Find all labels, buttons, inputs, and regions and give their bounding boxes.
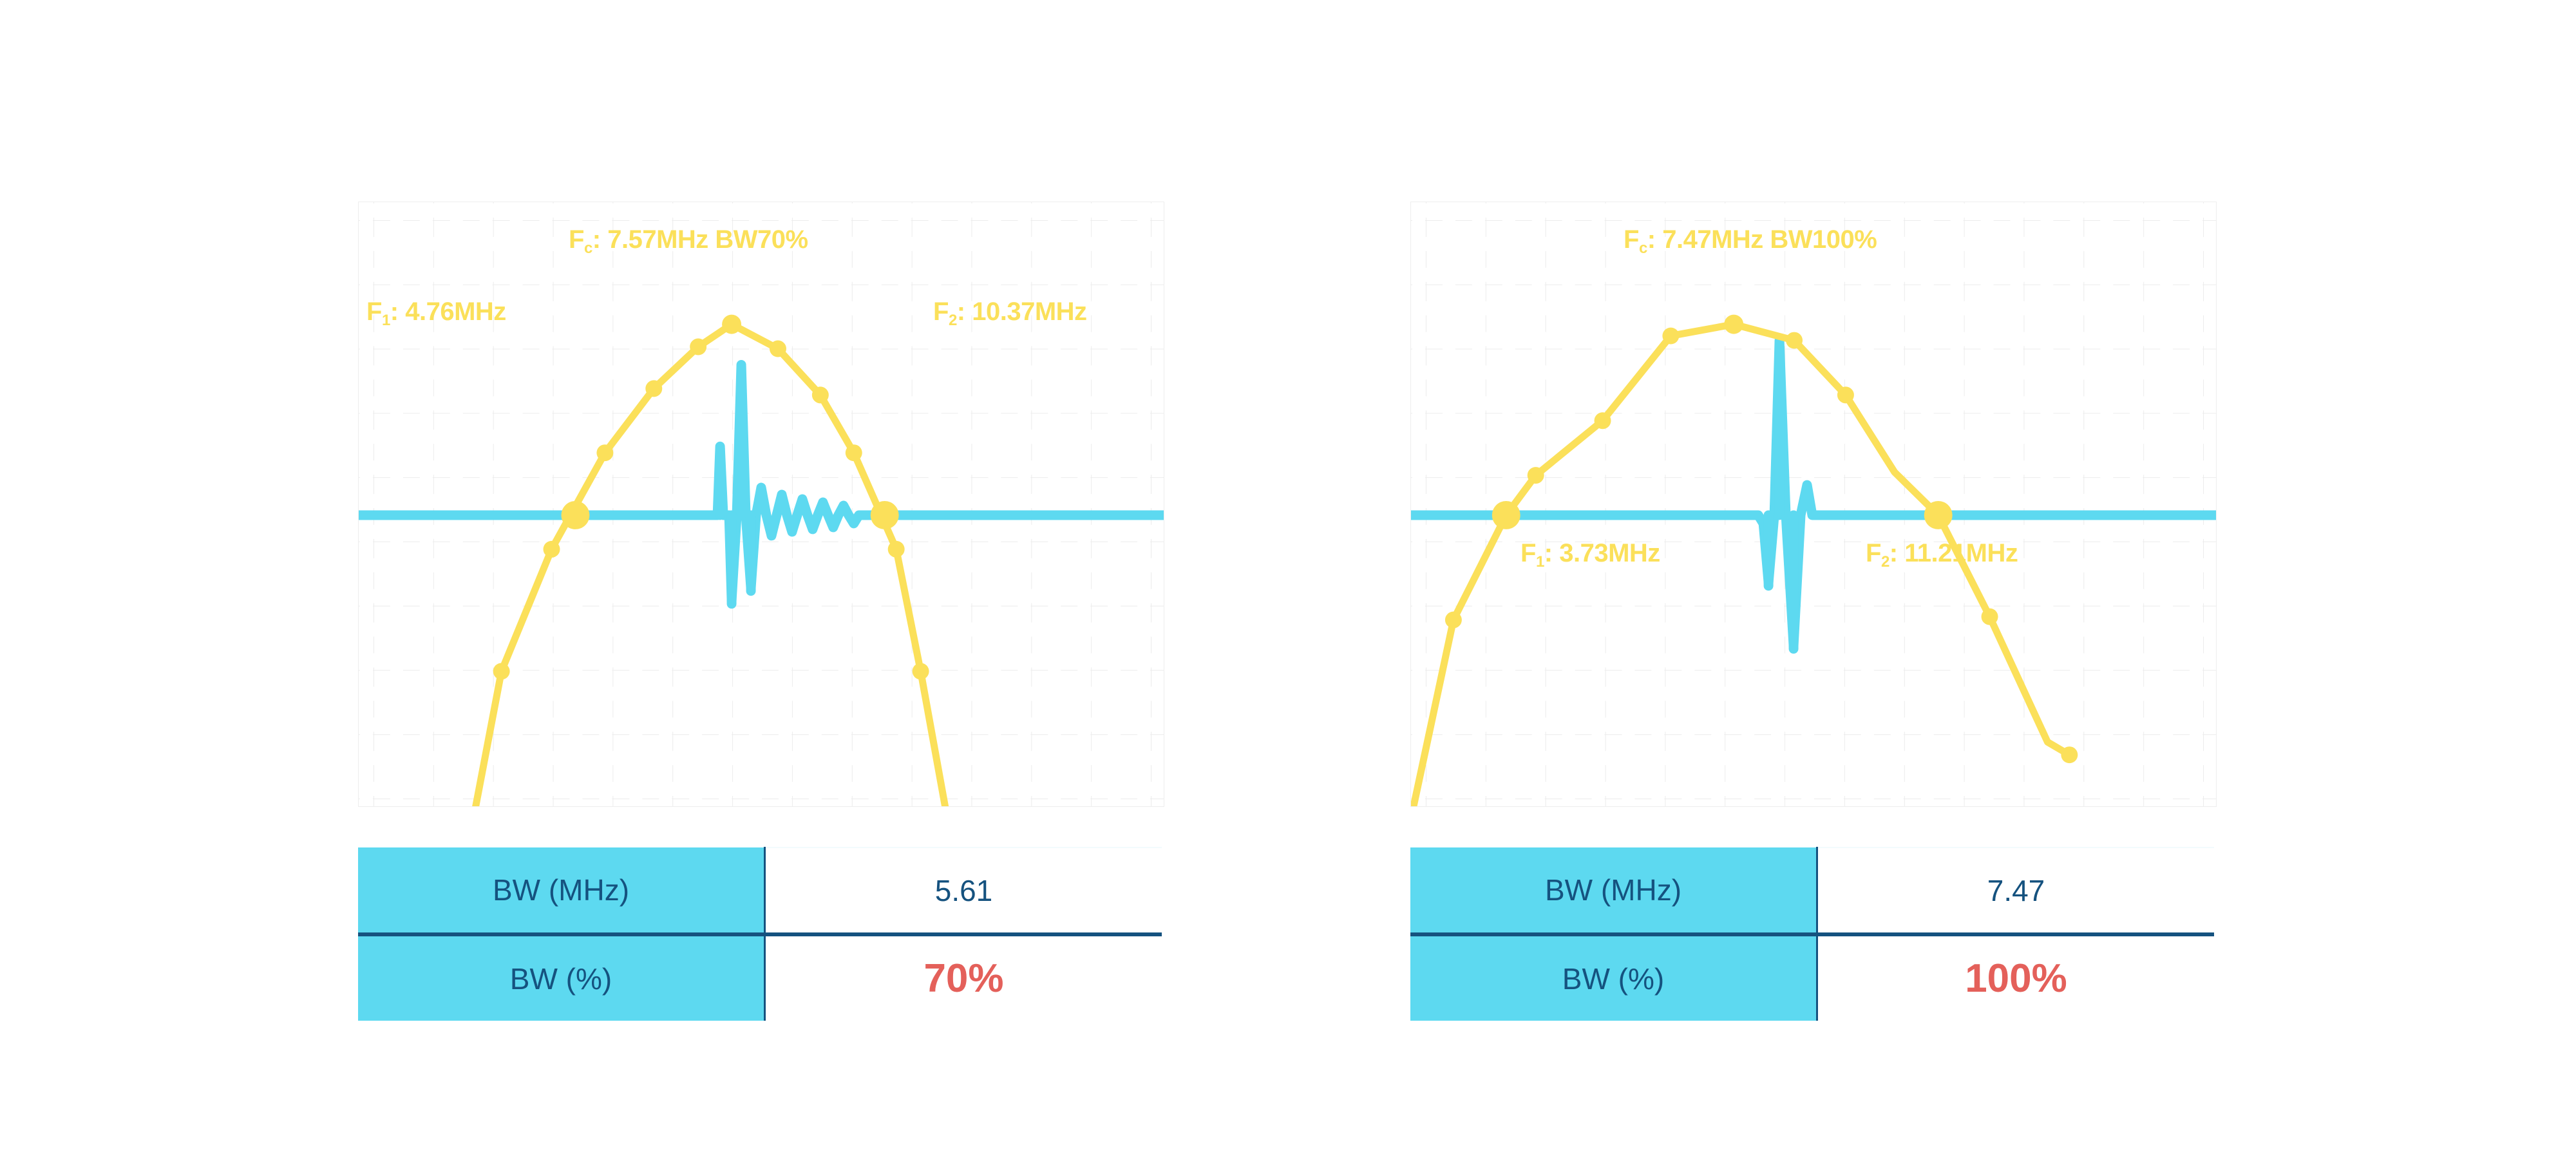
panel-left: Fc: 7.57MHz BW70% F1: 4.76MHz F2: 10.37M… <box>358 202 1164 807</box>
comparison-stage: Fc: 7.57MHz BW70% F1: 4.76MHz F2: 10.37M… <box>0 0 2576 1154</box>
plot-frame-left: Fc: 7.57MHz BW70% F1: 4.76MHz F2: 10.37M… <box>358 202 1164 807</box>
bw-mhz-value-right: 7.47 <box>1817 847 2215 934</box>
table-row: BW (MHz) 5.61 <box>358 847 1162 934</box>
bw-mhz-value-left: 5.61 <box>765 847 1162 934</box>
f1-marker-left <box>561 501 589 529</box>
fc-annotation-right: Fc: 7.47MHz BW100% <box>1624 227 1877 252</box>
f2-marker-left <box>871 501 899 529</box>
f1-marker-right <box>1492 501 1520 529</box>
bw-pct-label-right: BW (%) <box>1410 934 1817 1021</box>
spectrum-plot-right <box>1411 202 2216 806</box>
bw-pct-value-left: 70% <box>765 934 1162 1021</box>
spectrum-plot-left <box>359 202 1164 806</box>
plot-frame-right: Fc: 7.47MHz BW100% F1: 3.73MHz F2: 11.21… <box>1410 202 2217 807</box>
bw-mhz-label-right: BW (MHz) <box>1410 847 1817 934</box>
f1-annotation-right: F1: 3.73MHz <box>1520 540 1660 566</box>
table-row: BW (%) 70% <box>358 934 1162 1021</box>
fc-annotation-left: Fc: 7.57MHz BW70% <box>569 227 808 252</box>
bw-table-right: BW (MHz) 7.47 BW (%) 100% <box>1410 847 2214 1021</box>
f2-marker-right <box>1924 501 1953 529</box>
panel-right: Fc: 7.47MHz BW100% F1: 3.73MHz F2: 11.21… <box>1410 202 2217 807</box>
table-row: BW (MHz) 7.47 <box>1410 847 2214 934</box>
table-row: BW (%) 100% <box>1410 934 2214 1021</box>
f1-annotation-left: F1: 4.76MHz <box>366 299 506 325</box>
bw-table-left: BW (MHz) 5.61 BW (%) 70% <box>358 847 1162 1021</box>
bw-pct-label-left: BW (%) <box>358 934 765 1021</box>
f2-annotation-left: F2: 10.37MHz <box>933 299 1087 325</box>
bw-mhz-label-left: BW (MHz) <box>358 847 765 934</box>
bw-pct-value-right: 100% <box>1817 934 2215 1021</box>
f2-annotation-right: F2: 11.21MHz <box>1866 540 2018 566</box>
